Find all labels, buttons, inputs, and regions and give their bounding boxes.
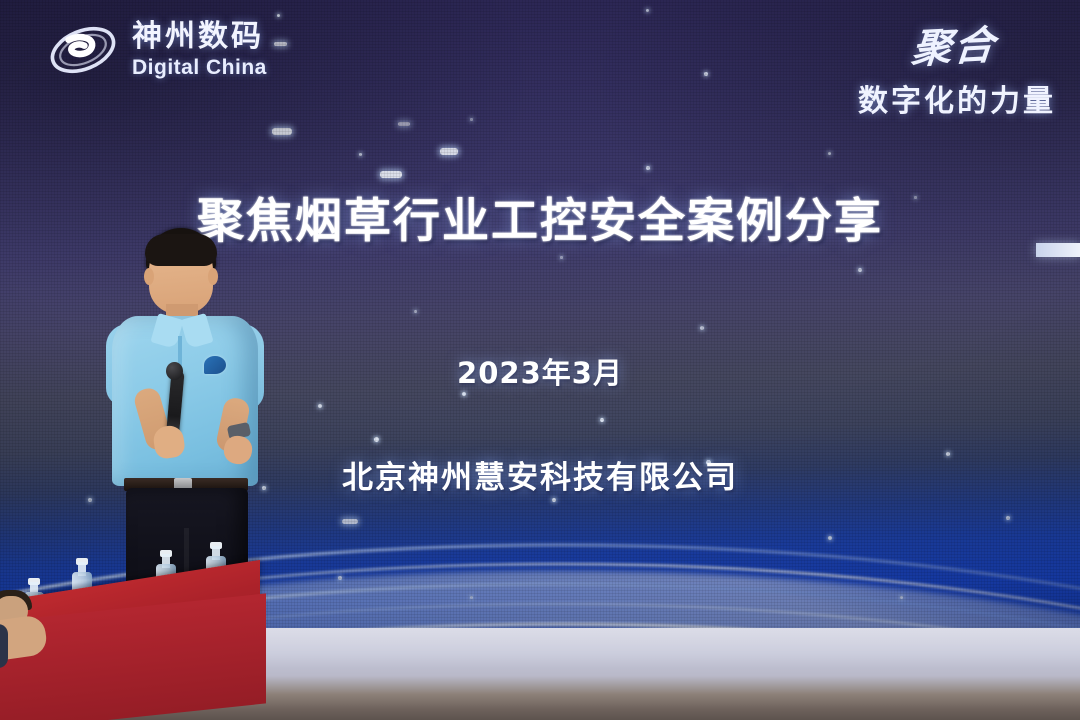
conference-photo-scene: 神州数码 Digital China 聚合 数字化的力量 聚焦烟草行业工控安全案… bbox=[0, 0, 1080, 720]
event-brand: 聚合 数字化的力量 bbox=[858, 16, 1056, 120]
microphone-head bbox=[166, 362, 183, 380]
presenter-hair-front bbox=[145, 234, 217, 266]
attendee-sleeve bbox=[0, 624, 8, 668]
presenter-ear-left bbox=[144, 268, 154, 285]
digital-china-logo: 神州数码 Digital China bbox=[46, 18, 267, 82]
event-tagline: 数字化的力量 bbox=[858, 76, 1056, 120]
digital-china-swirl-logo bbox=[46, 18, 120, 82]
event-calligraphy: 聚合 bbox=[855, 12, 999, 77]
presenter-ear-right bbox=[208, 268, 218, 285]
logo-name-en: Digital China bbox=[132, 57, 267, 78]
slide-accent-bar bbox=[1036, 243, 1080, 257]
logo-name-cn: 神州数码 bbox=[132, 22, 267, 52]
presenter-chest-logo bbox=[204, 356, 226, 374]
seated-attendee bbox=[0, 596, 62, 686]
